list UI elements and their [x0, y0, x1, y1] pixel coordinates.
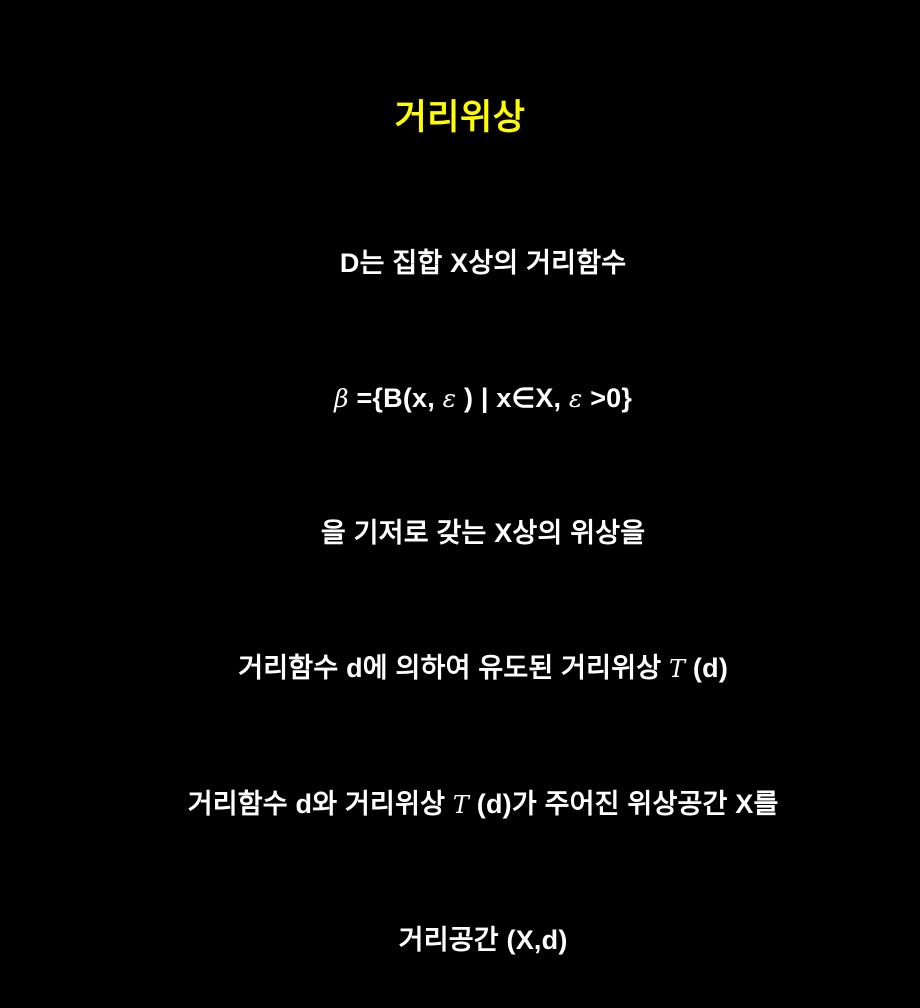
body-line-5-seg-2: (d)가 주어진 위상공간 X를: [469, 789, 778, 819]
body-line-1: D는 집합 X상의 거리함수: [0, 196, 920, 331]
body-line-2-seg-2: ) | x∈X,: [456, 383, 569, 413]
body-line-3-text: 을 기저로 갖는 X상의 위상을: [321, 518, 645, 548]
body-line-2-seg-1: ={B(x,: [349, 383, 443, 413]
body-line-5-seg-1: 거리함수 d와 거리위상: [188, 789, 453, 819]
tau-symbol-1: Τ: [669, 655, 685, 683]
slide-canvas: 거리위상 D는 집합 X상의 거리함수 β ={B(x, ε ) | x∈X, …: [0, 0, 920, 575]
body-line-1-text: D는 집합 X상의 거리함수: [340, 248, 626, 278]
body-line-6-text: 거리공간 (X,d): [399, 925, 568, 955]
body-line-5: 거리함수 d와 거리위상 Τ (d)가 주어진 위상공간 X를: [0, 737, 920, 873]
slide-title: 거리위상: [0, 96, 920, 140]
body-line-4-seg-2: (d): [685, 653, 728, 683]
epsilon-symbol-1: ε: [443, 384, 457, 413]
beta-symbol: β: [334, 384, 349, 413]
slide-body: D는 집합 X상의 거리함수 β ={B(x, ε ) | x∈X, ε >0}…: [0, 196, 920, 1008]
tau-symbol-2: Τ: [453, 791, 469, 819]
epsilon-symbol-2: ε: [569, 384, 583, 413]
body-line-4: 거리함수 d에 의하여 유도된 거리위상 Τ (d): [0, 601, 920, 737]
body-line-2-seg-3: >0}: [583, 383, 633, 413]
body-line-2: β ={B(x, ε ) | x∈X, ε >0}: [0, 331, 920, 466]
body-line-3: 을 기저로 갖는 X상의 위상을: [0, 466, 920, 601]
body-line-4-seg-1: 거리함수 d에 의하여 유도된 거리위상: [238, 653, 669, 683]
body-line-6: 거리공간 (X,d): [0, 873, 920, 1008]
